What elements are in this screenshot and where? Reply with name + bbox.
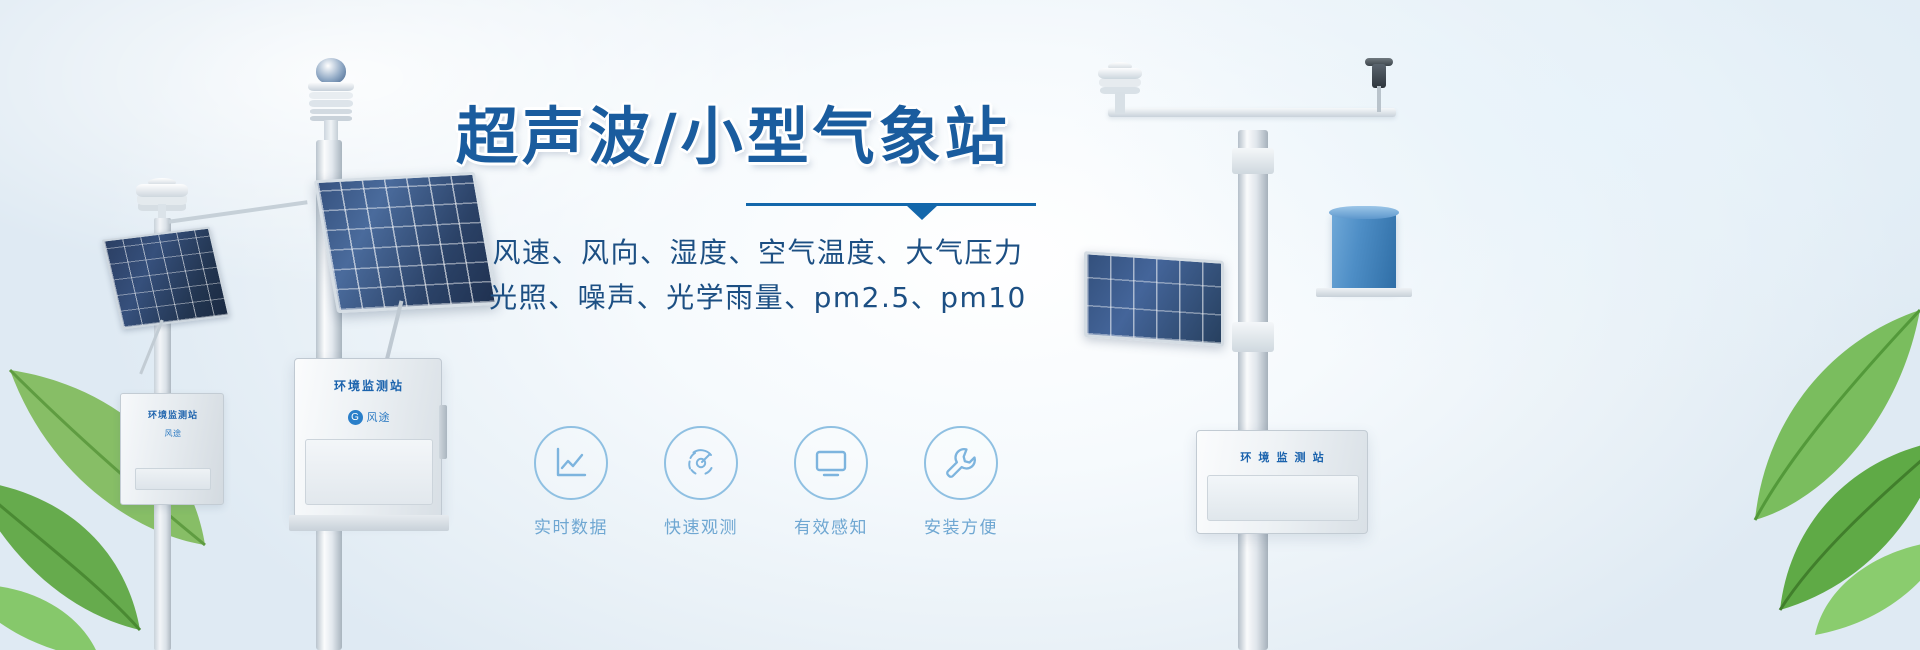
banner-headline: 超声波/小型气象站: [448, 104, 1068, 171]
feature-icon-circle: [924, 426, 998, 500]
feature-item-fast-observation[interactable]: 快速观测: [646, 426, 756, 538]
feature-label: 有效感知: [776, 513, 886, 538]
enclosure-box-right: 环 境 监 测 站: [1196, 430, 1368, 534]
feature-item-easy-installation[interactable]: 安装方便: [906, 426, 1016, 538]
feature-item-effective-sensing[interactable]: 有效感知: [776, 426, 886, 538]
product-banner: 环境监测站 风途 环境监测站 G 风途: [0, 0, 1920, 650]
divider: [746, 197, 1036, 219]
enclosure-door: [1207, 475, 1359, 521]
monitor-icon: [811, 443, 851, 483]
divider-line: [746, 203, 1036, 206]
banner-content: 超声波/小型气象站 风速、风向、湿度、空气温度、大气压力 光照、噪声、光学雨量、…: [448, 104, 1068, 320]
decorative-leaf-right: [1650, 290, 1920, 650]
feature-list: 实时数据 快速观测: [516, 426, 1016, 538]
enclosure-hinge: [439, 405, 447, 459]
solar-panel-right: [1084, 251, 1224, 347]
enclosure-vent: [135, 468, 211, 490]
enclosure-label: 环 境 监 测 站: [1197, 449, 1369, 465]
sensor-head-assembly: [302, 58, 360, 142]
weather-station-mast-right: [1218, 60, 1278, 650]
feature-icon-circle: [664, 426, 738, 500]
brand-label: 风途: [367, 409, 391, 425]
feature-item-realtime-data[interactable]: 实时数据: [516, 426, 626, 538]
enclosure-label: 环境监测站: [295, 377, 443, 394]
solar-panel-small: [102, 227, 230, 330]
mast-collar-upper: [1232, 148, 1274, 174]
rain-gauge-shelf: [1316, 288, 1412, 297]
weather-station-mast-main: [300, 30, 420, 650]
enclosure-box-small: 环境监测站 风途: [120, 393, 224, 505]
radiation-dome-icon: [316, 58, 346, 84]
feature-label: 安装方便: [906, 513, 1016, 538]
mast-pole: [1238, 130, 1268, 650]
enclosure-label: 环境监测站: [129, 408, 217, 421]
background-gradient: [0, 0, 1920, 650]
feature-label: 快速观测: [646, 513, 756, 538]
enclosure-door: [305, 439, 433, 505]
mast-collar-lower: [1232, 322, 1274, 352]
feature-label: 实时数据: [516, 513, 626, 538]
enclosure-base: [289, 515, 449, 531]
caret-down-icon: [906, 205, 938, 220]
feature-icon-circle: [534, 426, 608, 500]
line-chart-icon: [551, 443, 591, 483]
feature-icon-circle: [794, 426, 868, 500]
ultrasonic-anemometer-icon: [1098, 62, 1142, 114]
rain-gauge-icon: [1332, 212, 1396, 290]
radar-speed-icon: [681, 443, 721, 483]
brand-row: G 风途: [295, 409, 443, 425]
subtitle-line-2: 光照、噪声、光学雨量、pm2.5、pm10: [448, 276, 1068, 319]
wind-vane-icon: [1362, 58, 1396, 112]
brand-logo-icon: G: [348, 410, 363, 425]
subtitle-line-1: 风速、风向、湿度、空气温度、大气压力: [448, 231, 1068, 274]
enclosure-box-large: 环境监测站 G 风途: [294, 358, 442, 518]
brand-label: 风途: [129, 428, 217, 439]
wrench-icon: [941, 443, 981, 483]
